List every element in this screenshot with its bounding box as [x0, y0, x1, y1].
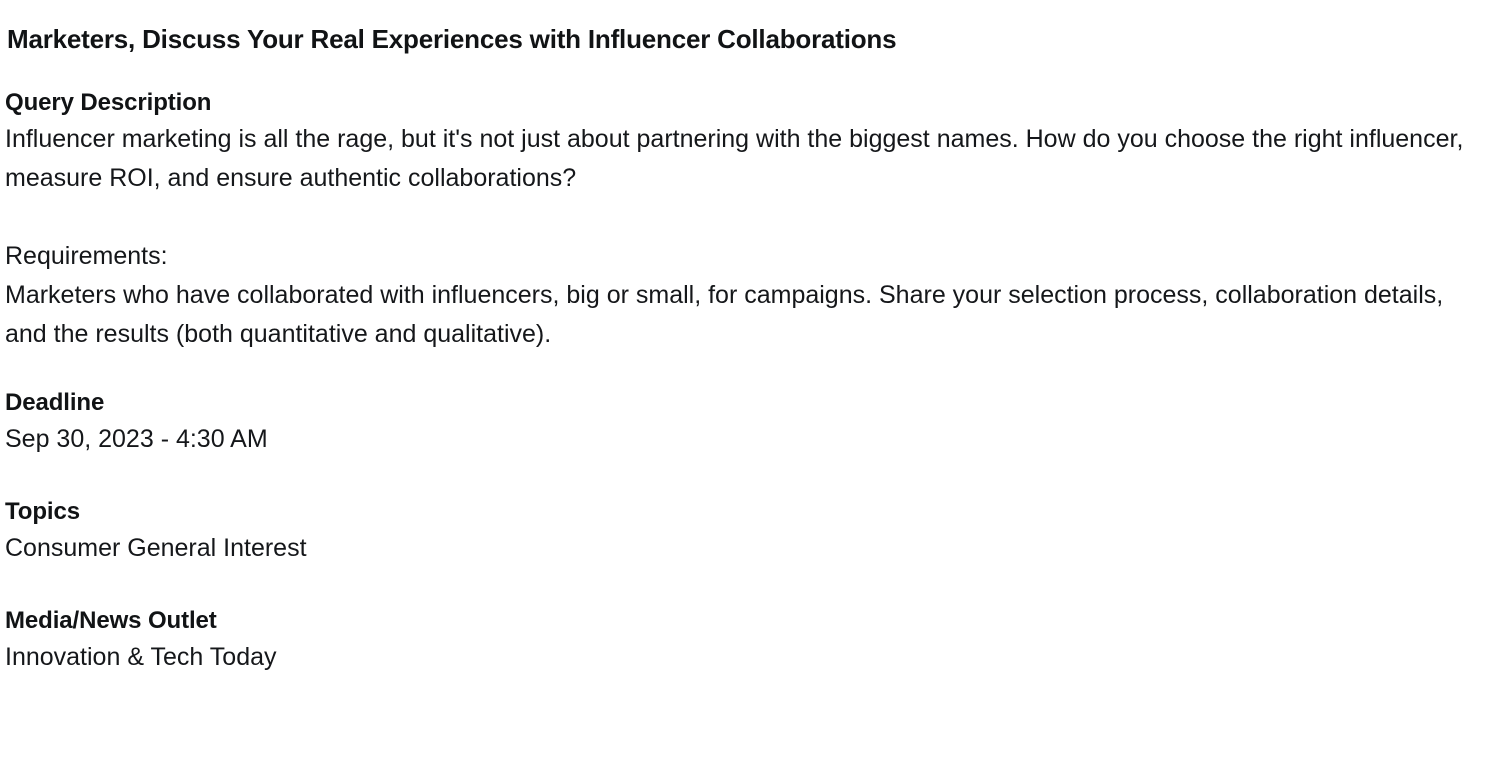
- requirements-label: Requirements:: [5, 237, 1473, 276]
- topics-heading: Topics: [5, 495, 1473, 529]
- topics-value: Consumer General Interest: [5, 529, 1473, 568]
- section-deadline: Deadline Sep 30, 2023 - 4:30 AM: [5, 386, 1473, 459]
- media-news-outlet-value: Innovation & Tech Today: [5, 638, 1473, 677]
- deadline-heading: Deadline: [5, 386, 1473, 420]
- section-query-description: Query Description Influencer marketing i…: [5, 86, 1473, 354]
- requirements-text: Marketers who have collaborated with inf…: [5, 276, 1473, 354]
- query-description-heading: Query Description: [5, 86, 1473, 120]
- query-description-text: Influencer marketing is all the rage, bu…: [5, 120, 1473, 198]
- section-topics: Topics Consumer General Interest: [5, 495, 1473, 568]
- section-media-news-outlet: Media/News Outlet Innovation & Tech Toda…: [5, 604, 1473, 677]
- media-news-outlet-heading: Media/News Outlet: [5, 604, 1473, 638]
- deadline-value: Sep 30, 2023 - 4:30 AM: [5, 420, 1473, 459]
- page-title: Marketers, Discuss Your Real Experiences…: [7, 22, 1473, 56]
- query-detail-page: Marketers, Discuss Your Real Experiences…: [0, 0, 1485, 767]
